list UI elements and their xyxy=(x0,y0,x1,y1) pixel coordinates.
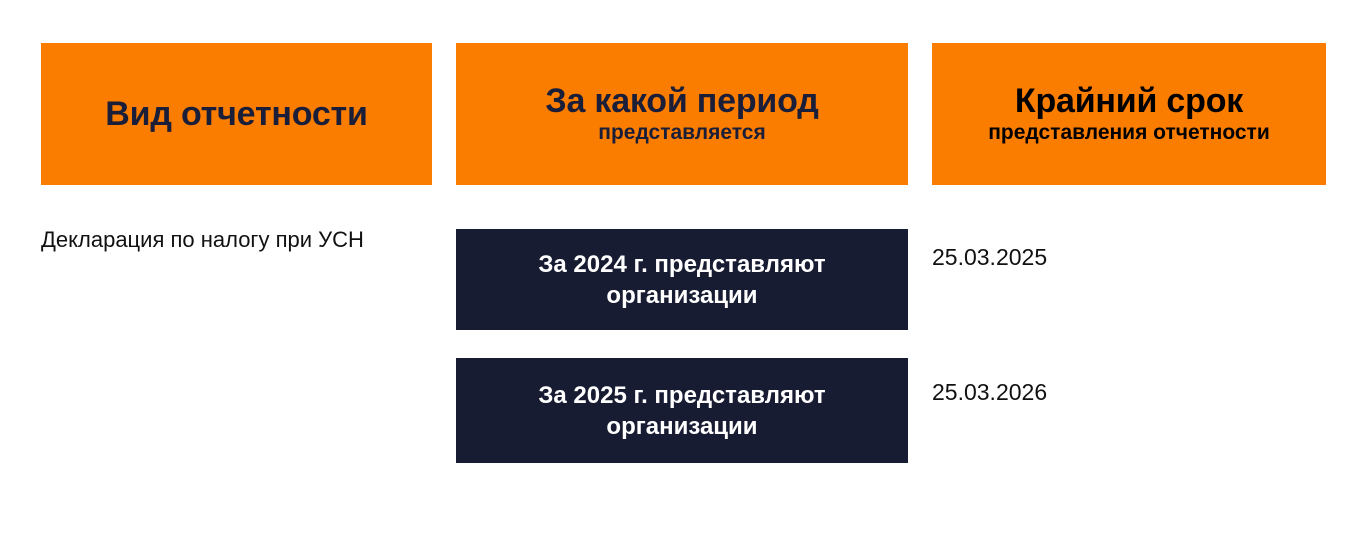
header-cell-deadline: Крайний срок представления отчетности xyxy=(932,43,1326,185)
header-subtitle-deadline: представления отчетности xyxy=(988,121,1270,145)
period-block-2024: За 2024 г. представляют организации xyxy=(456,229,908,330)
deadline-value-2025: 25.03.2026 xyxy=(932,378,1047,406)
header-title-deadline: Крайний срок xyxy=(1015,82,1243,120)
header-cell-period: За какой период представляется xyxy=(456,43,908,185)
deadline-value-2024: 25.03.2025 xyxy=(932,243,1047,271)
header-title-period: За какой период xyxy=(545,82,818,120)
period-block-2025: За 2025 г. представляют организации xyxy=(456,358,908,463)
period-block-2024-text: За 2024 г. представляют организации xyxy=(474,249,890,311)
infographic-table: Вид отчетности За какой период представл… xyxy=(0,0,1366,557)
header-subtitle-period: представляется xyxy=(598,121,765,145)
header-title-report-type: Вид отчетности xyxy=(105,95,367,133)
row-label-report-type: Декларация по налогу при УСН xyxy=(41,226,421,254)
header-cell-report-type: Вид отчетности xyxy=(41,43,432,185)
period-block-2025-text: За 2025 г. представляют организации xyxy=(474,380,890,442)
